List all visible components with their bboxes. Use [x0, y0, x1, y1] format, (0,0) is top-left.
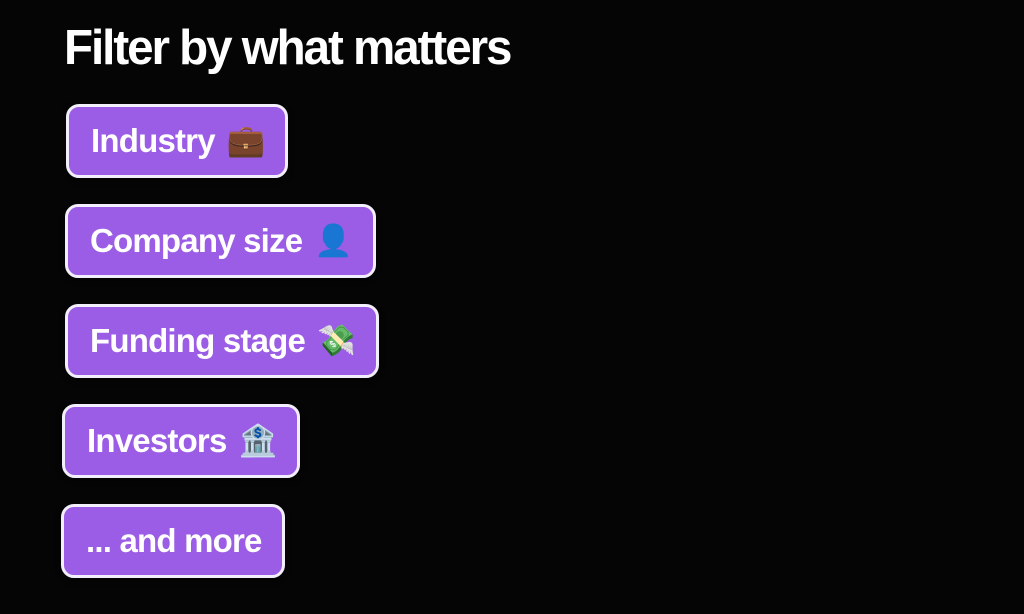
filter-row: Investors 🏦 — [0, 404, 1024, 504]
money-with-wings-emoji: 💸 — [317, 324, 356, 358]
filter-row: Funding stage 💸 — [0, 304, 1024, 404]
filter-pill-label: Funding stage — [90, 324, 305, 358]
bank-emoji: 🏦 — [239, 424, 278, 458]
filter-row: Company size 👤 — [0, 204, 1024, 304]
filter-pill-label: ... and more — [86, 524, 262, 558]
filter-pill-industry[interactable]: Industry 💼 — [66, 104, 288, 178]
filter-pill-and-more[interactable]: ... and more — [61, 504, 285, 578]
filter-pill-label: Industry — [91, 124, 215, 158]
bust-in-silhouette-emoji: 👤 — [314, 224, 353, 258]
filter-pill-investors[interactable]: Investors 🏦 — [62, 404, 300, 478]
filter-pill-list: Industry 💼 Company size 👤 Funding stage … — [0, 104, 1024, 604]
filter-pill-company-size[interactable]: Company size 👤 — [65, 204, 376, 278]
page-title: Filter by what matters — [64, 16, 510, 80]
filter-pill-label: Company size — [90, 224, 302, 258]
filter-pill-funding-stage[interactable]: Funding stage 💸 — [65, 304, 379, 378]
briefcase-emoji: 💼 — [227, 124, 266, 158]
filter-row: ... and more — [0, 504, 1024, 604]
filter-pill-label: Investors — [87, 424, 227, 458]
screen-root: Filter by what matters Industry 💼 Compan… — [0, 0, 1024, 614]
filter-row: Industry 💼 — [0, 104, 1024, 204]
